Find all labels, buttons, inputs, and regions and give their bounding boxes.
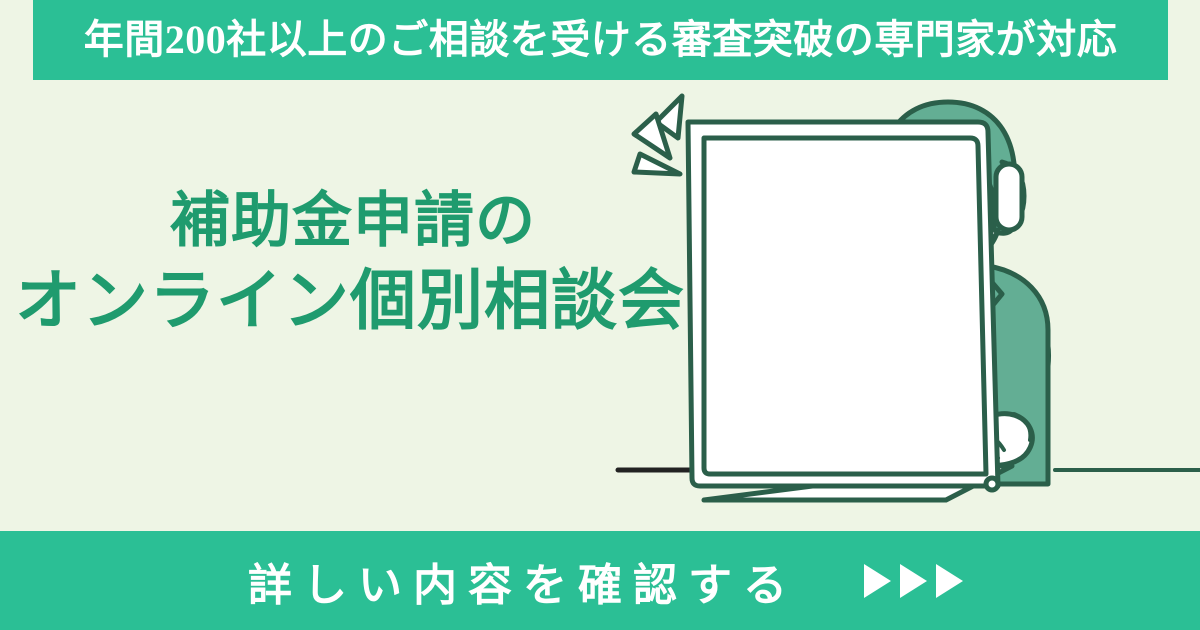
- play-arrow-icon: [864, 564, 891, 598]
- headline-block: 補助金申請の オンライン個別相談会: [0, 188, 700, 339]
- sparkle-icon: [634, 96, 682, 174]
- laptop-screen-inner: [704, 138, 986, 474]
- cta-arrows: [864, 564, 963, 598]
- headline-line-2: オンライン個別相談会: [0, 265, 700, 339]
- headline-line-1: 補助金申請の: [0, 188, 700, 255]
- cta-label: 詳しい内容を確認する: [237, 549, 798, 613]
- play-arrow-icon: [936, 564, 963, 598]
- play-arrow-icon: [900, 564, 927, 598]
- cta-bar[interactable]: 詳しい内容を確認する: [0, 531, 1200, 630]
- operator-illustration: [600, 80, 1200, 535]
- top-ribbon-text: 年間200社以上のご相談を受ける審査突破の専門家が対応: [84, 20, 1118, 60]
- top-ribbon: 年間200社以上のご相談を受ける審査突破の専門家が対応: [33, 0, 1168, 80]
- promo-banner: 年間200社以上のご相談を受ける審査突破の専門家が対応 補助金申請の オンライン…: [0, 0, 1200, 630]
- laptop-hinge: [986, 478, 998, 490]
